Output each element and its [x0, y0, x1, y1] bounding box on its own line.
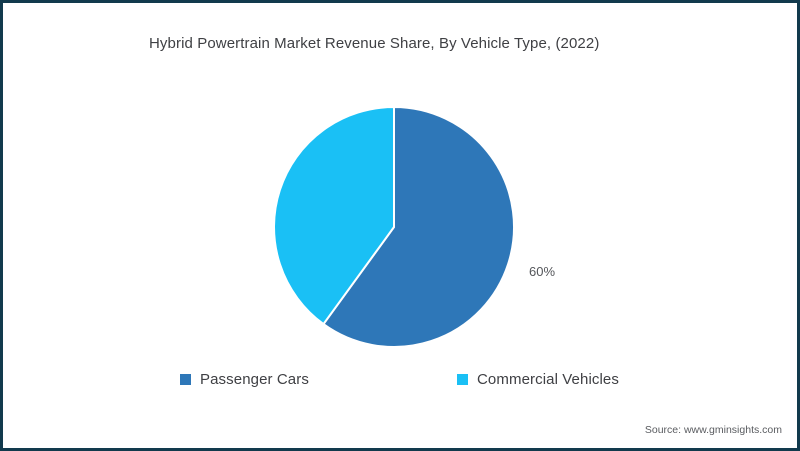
- chart-card: Hybrid Powertrain Market Revenue Share, …: [0, 0, 800, 451]
- page-title: Hybrid Powertrain Market Revenue Share, …: [149, 33, 599, 55]
- legend-item-passenger-cars[interactable]: Passenger Cars: [180, 367, 309, 391]
- pie-chart-svg: [274, 107, 514, 347]
- legend-swatch-icon-commercial-vehicles: [457, 374, 468, 385]
- legend-swatch-icon-passenger-cars: [180, 374, 191, 385]
- legend-item-label: Commercial Vehicles: [477, 371, 619, 388]
- pie-chart: [274, 107, 514, 347]
- legend-item-commercial-vehicles[interactable]: Commercial Vehicles: [457, 367, 619, 391]
- pie-slice-group: [274, 107, 514, 347]
- legend-item-label: Passenger Cars: [200, 371, 309, 388]
- source-attribution: Source: www.gminsights.com: [645, 424, 782, 436]
- legend: Passenger Cars Commercial Vehicles: [180, 367, 650, 391]
- pie-slice-value-label-passenger-cars: 60%: [529, 263, 555, 281]
